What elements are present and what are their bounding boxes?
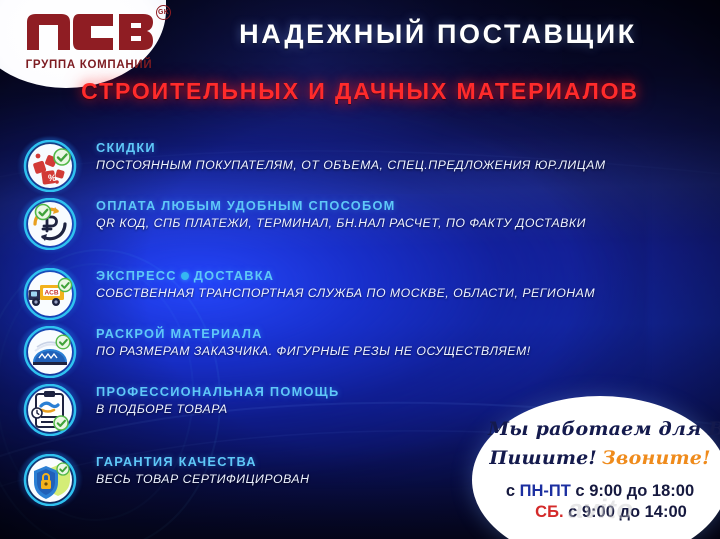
saw-blade-icon	[18, 324, 82, 380]
hours-saturday: СБ. с 9:00 до 14:00	[488, 503, 712, 522]
saturday-label: СБ.	[535, 503, 563, 521]
call-label: Звоните!	[602, 447, 711, 469]
weekdays-hours: с 9:00 до 18:00	[571, 482, 694, 500]
feature-heading-part1: ЭКСПРЕСС	[96, 268, 177, 283]
logo-subtitle: ГРУППА КОМПАНИЙ	[14, 59, 164, 71]
feature-heading: ЭКСПРЕССДОСТАВКА	[96, 268, 712, 283]
delivery-truck-icon: ACB	[18, 266, 82, 322]
feature-text: ЭКСПРЕССДОСТАВКА СОБСТВЕННАЯ ТРАНСПОРТНА…	[96, 268, 712, 300]
feature-description: ПО РАЗМЕРАМ ЗАКАЗЧИКА. ФИГУРНЫЕ РЕЗЫ НЕ …	[96, 344, 712, 358]
logo-gk-badge: GK	[156, 5, 171, 20]
feature-row-delivery: ACB ЭКСПРЕССДОСТАВКА СОБСТВЕННАЯ ТРАНСПО…	[0, 264, 720, 322]
shield-lock-icon	[18, 452, 82, 508]
logo-mark: GK	[23, 8, 155, 57]
svg-text:ACB: ACB	[44, 290, 58, 297]
feature-row-payment: ОПЛАТА ЛЮБЫМ УДОБНЫМ СПОСОБОМ QR КОД, СП…	[0, 194, 720, 264]
headline-primary: НАДЕЖНЫЙ ПОСТАВЩИК	[182, 19, 694, 50]
feature-description: QR КОД, СПБ ПЛАТЕЖИ, ТЕРМИНАЛ, БН.НАЛ РА…	[96, 216, 712, 230]
discount-tags-icon: %	[18, 138, 82, 194]
feature-description: СОБСТВЕННАЯ ТРАНСПОРТНАЯ СЛУЖБА ПО МОСКВ…	[96, 286, 712, 300]
feature-description: ПОСТОЯННЫМ ПОКУПАТЕЛЯМ, ОТ ОБЪЕМА, СПЕЦ.…	[96, 158, 712, 172]
feature-heading-part2: ДОСТАВКА	[194, 268, 275, 283]
feature-heading: СКИДКИ	[96, 140, 712, 155]
headline-secondary: СТРОИТЕЛЬНЫХ И ДАЧНЫХ МАТЕРИАЛОВ	[8, 78, 712, 105]
feature-heading: РАСКРОЙ МАТЕРИАЛА	[96, 326, 712, 341]
weekdays-prefix: с	[506, 482, 520, 500]
feature-row-discounts: % СКИДКИ ПОСТОЯННЫМ ПОКУПАТЕЛЯМ, ОТ ОБЪЕ…	[0, 136, 720, 194]
feature-text: РАСКРОЙ МАТЕРИАЛА ПО РАЗМЕРАМ ЗАКАЗЧИКА.…	[96, 326, 712, 358]
feature-text: СКИДКИ ПОСТОЯННЫМ ПОКУПАТЕЛЯМ, ОТ ОБЪЕМА…	[96, 140, 712, 172]
bullet-dot-icon	[181, 272, 189, 280]
svg-text:%: %	[48, 173, 56, 183]
feature-row-cutting: РАСКРОЙ МАТЕРИАЛА ПО РАЗМЕРАМ ЗАКАЗЧИКА.…	[0, 322, 720, 380]
write-label: Пишите!	[489, 447, 597, 469]
feature-heading: ОПЛАТА ЛЮБЫМ УДОБНЫМ СПОСОБОМ	[96, 198, 712, 213]
ruble-payment-icon	[18, 196, 82, 252]
advertisement-banner: GK ГРУППА КОМПАНИЙ НАДЕЖНЫЙ ПОСТАВЩИК СТ…	[0, 0, 720, 539]
contact-slogan: Мы работаем для Вас!	[488, 418, 712, 440]
company-logo: GK ГРУППА КОМПАНИЙ	[14, 8, 164, 71]
weekdays-label: ПН-ПТ	[520, 482, 571, 500]
feature-text: ОПЛАТА ЛЮБЫМ УДОБНЫМ СПОСОБОМ QR КОД, СП…	[96, 198, 712, 230]
clipboard-handshake-icon	[18, 382, 82, 438]
logo-glyph-acb-icon	[23, 8, 155, 52]
contact-block: Мы работаем для Вас! Пишите!Звоните! с П…	[472, 396, 720, 539]
saturday-hours: с 9:00 до 14:00	[564, 503, 687, 521]
hours-weekdays: с ПН-ПТ с 9:00 до 18:00	[488, 482, 712, 501]
contact-cta: Пишите!Звоните!	[488, 447, 712, 469]
